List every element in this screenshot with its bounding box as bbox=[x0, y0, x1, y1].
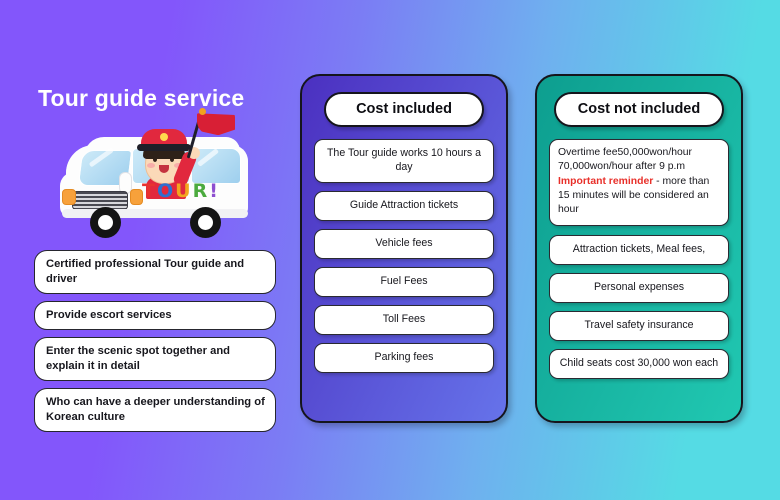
list-item: Toll Fees bbox=[314, 305, 494, 335]
note-line-1: Overtime fee50,000won/hour bbox=[558, 147, 692, 158]
guide-cap-brim bbox=[137, 144, 191, 151]
tour-letter-t: T bbox=[142, 180, 157, 202]
note-line-2: 70,000won/hour after 9 p.m bbox=[558, 161, 685, 172]
tour-letter-excl: ! bbox=[209, 180, 220, 202]
list-item: Vehicle fees bbox=[314, 229, 494, 259]
panel-cost-included: Cost included The Tour guide works 10 ho… bbox=[300, 74, 508, 423]
list-item: Child seats cost 30,000 won each bbox=[549, 349, 729, 379]
important-reminder-highlight: Important reminder bbox=[558, 176, 653, 187]
poster-canvas: Tour guide service bbox=[0, 0, 780, 500]
window-shine bbox=[89, 148, 114, 168]
tour-letter-u: U bbox=[175, 180, 192, 202]
list-item: Parking fees bbox=[314, 343, 494, 373]
van-wheel-rear bbox=[190, 207, 221, 238]
van-tour-lettering: TOUR! bbox=[142, 180, 220, 202]
overtime-fee-note: Overtime fee50,000won/hour 70,000won/hou… bbox=[549, 139, 729, 226]
list-item: The Tour guide works 10 hours a day bbox=[314, 139, 494, 183]
feature-list: Certified professional Tour guide and dr… bbox=[34, 250, 284, 431]
tour-letter-o: O bbox=[157, 180, 175, 202]
van-headlight-left bbox=[62, 189, 76, 205]
tour-letter-r: R bbox=[193, 180, 210, 202]
van-wheel-front bbox=[90, 207, 121, 238]
page-title: Tour guide service bbox=[38, 86, 284, 111]
panel-cost-not-included: Cost not included Overtime fee50,000won/… bbox=[535, 74, 743, 423]
feature-box: Who can have a deeper understanding of K… bbox=[34, 388, 276, 432]
window-shine bbox=[197, 148, 219, 167]
panel-title-cost-not-included: Cost not included bbox=[554, 92, 724, 127]
left-column: Tour guide service bbox=[34, 86, 284, 439]
list-item: Personal expenses bbox=[549, 273, 729, 303]
feature-box: Enter the scenic spot together and expla… bbox=[34, 337, 276, 381]
tour-van-illustration: TOUR! bbox=[60, 117, 265, 242]
list-item: Attraction tickets, Meal fees, bbox=[549, 235, 729, 265]
cost-included-item-list: The Tour guide works 10 hours a dayGuide… bbox=[314, 139, 494, 373]
cost-not-included-item-list: Attraction tickets, Meal fees,Personal e… bbox=[549, 235, 729, 379]
panel-title-cost-included: Cost included bbox=[324, 92, 484, 127]
list-item: Fuel Fees bbox=[314, 267, 494, 297]
feature-box: Certified professional Tour guide and dr… bbox=[34, 250, 276, 294]
feature-box: Provide escort services bbox=[34, 301, 276, 330]
list-item: Guide Attraction tickets bbox=[314, 191, 494, 221]
red-flag-icon bbox=[197, 113, 235, 135]
list-item: Travel safety insurance bbox=[549, 311, 729, 341]
